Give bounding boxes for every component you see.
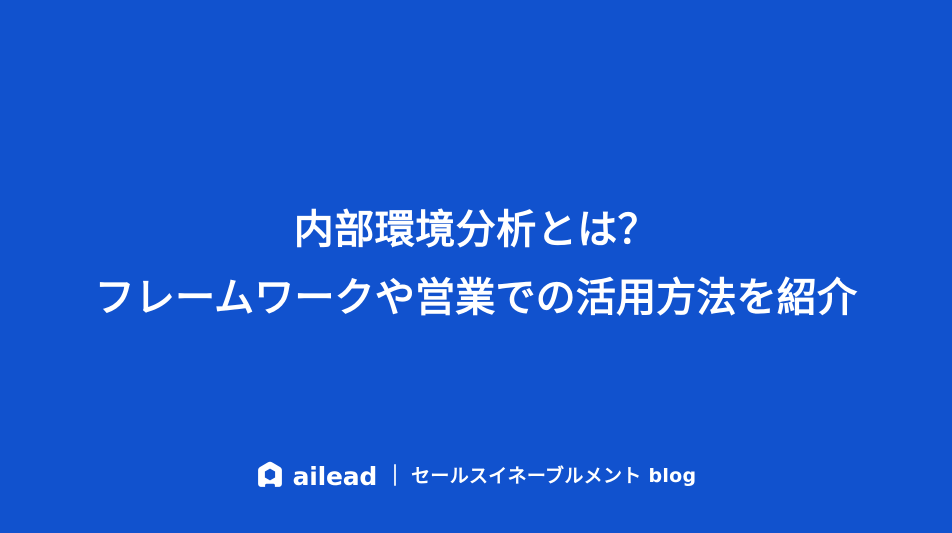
ailead-logo [256,461,293,489]
title-line-1: 内部環境分析とは？ [24,196,928,264]
brand-footer: ailead セールスイネーブルメント blog [0,455,952,495]
footer-divider [394,464,396,486]
brand-wordmark: ailead [293,464,378,489]
title-line-2: フレームワークや営業での活用方法を紹介 [24,264,928,332]
blog-header-card: 内部環境分析とは？ フレームワークや営業での活用方法を紹介 ailead セール… [0,0,952,533]
ailead-hexagon-logo-icon [256,461,284,489]
footer-tagline: セールスイネーブルメント blog [411,467,696,486]
page-title: 内部環境分析とは？ フレームワークや営業での活用方法を紹介 [0,196,952,332]
